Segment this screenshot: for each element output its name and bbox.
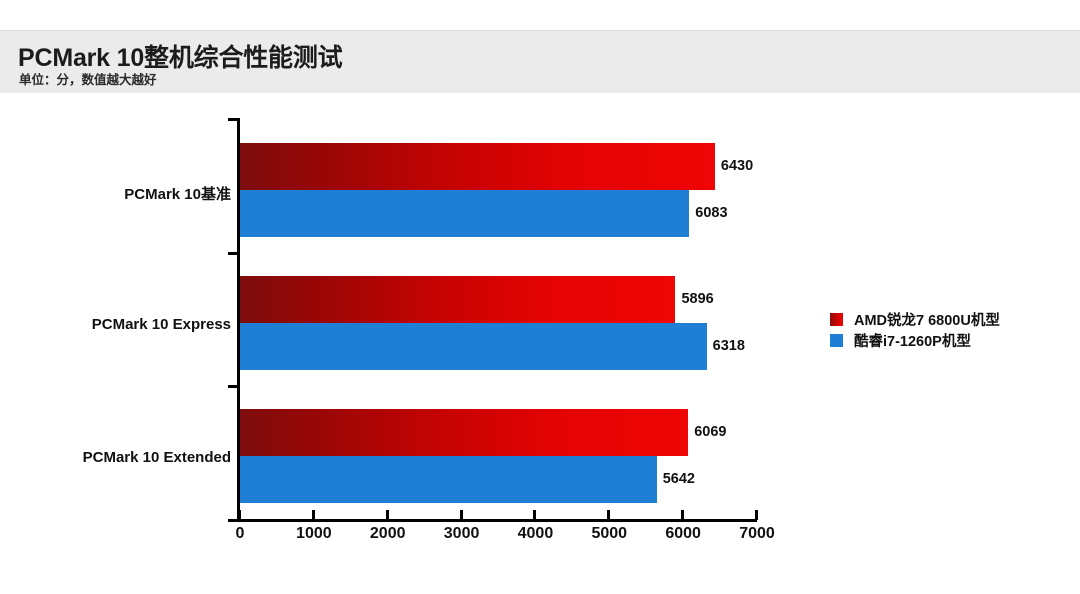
category-label: PCMark 10 Extended <box>83 449 231 466</box>
legend-item[interactable]: 酷睿i7-1260P机型 <box>830 330 1000 351</box>
y-axis-tick <box>228 385 238 388</box>
x-axis-line <box>237 519 757 522</box>
legend-item-label: AMD锐龙7 6800U机型 <box>854 309 1000 330</box>
bar-value-label: 6430 <box>721 158 753 174</box>
bar-intel <box>240 323 707 370</box>
x-axis-tick <box>607 510 610 520</box>
y-axis-tick <box>228 519 238 522</box>
category-label: PCMark 10基准 <box>124 183 231 204</box>
x-axis-tick-label: 7000 <box>722 525 792 543</box>
x-axis-tick <box>312 510 315 520</box>
chart-legend: AMD锐龙7 6800U机型酷睿i7-1260P机型 <box>830 309 1000 351</box>
x-axis-tick-label: 5000 <box>574 525 644 543</box>
x-axis-tick <box>460 510 463 520</box>
x-axis-tick-label: 6000 <box>648 525 718 543</box>
x-axis-tick <box>386 510 389 520</box>
bar-value-label: 6083 <box>695 205 727 221</box>
x-axis-tick-label: 0 <box>205 525 275 543</box>
legend-swatch-icon <box>830 334 843 347</box>
y-axis-tick <box>228 118 238 121</box>
legend-swatch-icon <box>830 313 843 326</box>
x-axis-tick-label: 4000 <box>500 525 570 543</box>
bar-chart-plot: 01000200030004000500060007000 PCMark 10基… <box>0 0 1080 594</box>
legend-item[interactable]: AMD锐龙7 6800U机型 <box>830 309 1000 330</box>
bar-intel <box>240 190 689 237</box>
bar-value-label: 5896 <box>681 291 713 307</box>
x-axis-tick <box>681 510 684 520</box>
x-axis-tick <box>238 510 241 520</box>
x-axis-tick-label: 3000 <box>427 525 497 543</box>
bar-value-label: 5642 <box>663 471 695 487</box>
category-label: PCMark 10 Express <box>92 316 231 333</box>
bar-value-label: 6318 <box>713 338 745 354</box>
x-axis-tick-label: 2000 <box>353 525 423 543</box>
bar-amd <box>240 276 675 323</box>
bar-value-label: 6069 <box>694 424 726 440</box>
bar-amd <box>240 143 715 190</box>
y-axis-tick <box>228 252 238 255</box>
legend-item-label: 酷睿i7-1260P机型 <box>854 330 971 351</box>
bar-intel <box>240 456 657 503</box>
x-axis-tick <box>755 510 758 520</box>
bar-amd <box>240 409 688 456</box>
x-axis-tick-label: 1000 <box>279 525 349 543</box>
x-axis-tick <box>533 510 536 520</box>
